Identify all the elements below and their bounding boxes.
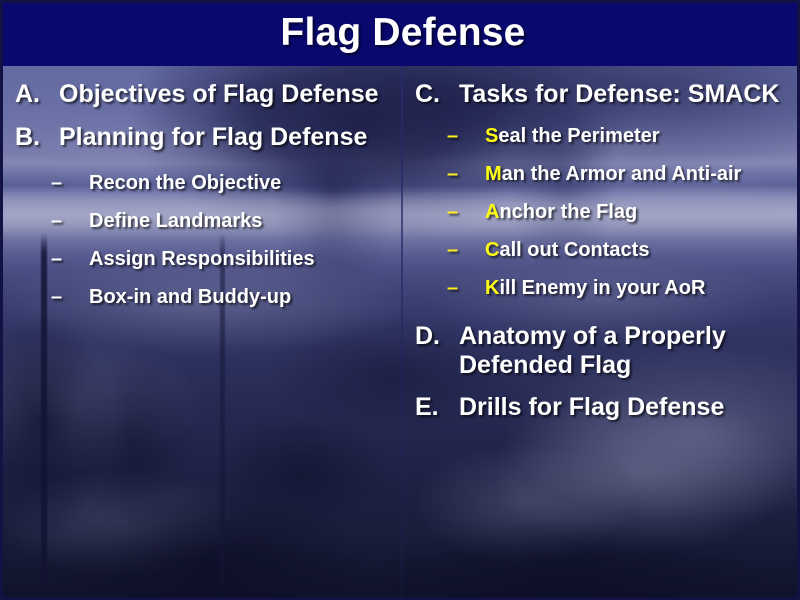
bullet-dash-icon: – (51, 210, 89, 233)
smack-rest-anchor: nchor the Flag (499, 201, 637, 223)
bullet-dash-icon: – (447, 201, 485, 224)
smack-item-seal: – Seal the Perimeter (447, 125, 800, 148)
outline-marker-c: C. (415, 80, 459, 109)
slide-title: Flag Defense (3, 3, 800, 66)
outline-text-d: Anatomy of a Properly Defended Flag (459, 322, 800, 380)
smack-key-letter-s: S (485, 125, 498, 147)
sub-item-recon-label: Recon the Objective (89, 172, 401, 195)
smack-key-letter-k: K (485, 277, 499, 299)
smack-rest-seal: eal the Perimeter (498, 125, 659, 147)
outline-item-b: B. Planning for Flag Defense (15, 123, 401, 152)
outline-item-e: E. Drills for Flag Defense (415, 393, 800, 422)
smack-key-letter-m: M (485, 163, 502, 185)
right-content-column: C. Tasks for Defense: SMACK – Seal the P… (403, 66, 800, 422)
bullet-dash-icon: – (447, 125, 485, 148)
bullet-dash-icon: – (447, 239, 485, 262)
outline-text-c: Tasks for Defense: SMACK (459, 80, 800, 109)
outline-marker-a: A. (15, 80, 59, 109)
smack-rest-call: all out Contacts (499, 239, 649, 261)
smack-item-call-label: Call out Contacts (485, 239, 800, 262)
left-content-column: A. Objectives of Flag Defense B. Plannin… (3, 66, 401, 309)
sub-item-landmarks: – Define Landmarks (51, 210, 401, 233)
sub-item-responsibilities-label: Assign Responsibilities (89, 248, 401, 271)
sub-item-responsibilities: – Assign Responsibilities (51, 248, 401, 271)
smack-item-call: – Call out Contacts (447, 239, 800, 262)
smack-key-letter-c: C (485, 239, 499, 261)
smack-item-man-label: Man the Armor and Anti-air (485, 163, 800, 186)
outline-text-b: Planning for Flag Defense (59, 123, 401, 152)
smack-item-kill-label: Kill Enemy in your AoR (485, 277, 800, 300)
smack-item-kill: – Kill Enemy in your AoR (447, 277, 800, 300)
sub-item-box-in-label: Box-in and Buddy-up (89, 286, 401, 309)
smack-item-man: – Man the Armor and Anti-air (447, 163, 800, 186)
smack-item-anchor-label: Anchor the Flag (485, 201, 800, 224)
outline-text-a: Objectives of Flag Defense (59, 80, 401, 109)
outline-marker-b: B. (15, 123, 59, 152)
outline-item-a: A. Objectives of Flag Defense (15, 80, 401, 109)
sub-item-landmarks-label: Define Landmarks (89, 210, 401, 233)
outline-marker-e: E. (415, 393, 459, 422)
smack-item-anchor: – Anchor the Flag (447, 201, 800, 224)
smack-rest-man: an the Armor and Anti-air (502, 163, 742, 185)
outline-text-e: Drills for Flag Defense (459, 393, 800, 422)
slide: Flag Defense A. Objectives of Flag Defen… (0, 0, 800, 600)
outline-item-d: D. Anatomy of a Properly Defended Flag (415, 322, 800, 380)
bullet-dash-icon: – (51, 286, 89, 309)
sub-item-box-in: – Box-in and Buddy-up (51, 286, 401, 309)
bullet-dash-icon: – (51, 172, 89, 195)
smack-item-seal-label: Seal the Perimeter (485, 125, 800, 148)
bullet-dash-icon: – (447, 163, 485, 186)
title-bar: Flag Defense (3, 3, 800, 66)
outline-item-c: C. Tasks for Defense: SMACK (415, 80, 800, 109)
bullet-dash-icon: – (51, 248, 89, 271)
outline-marker-d: D. (415, 322, 459, 351)
bullet-dash-icon: – (447, 277, 485, 300)
sub-item-recon: – Recon the Objective (51, 172, 401, 195)
smack-rest-kill: ill Enemy in your AoR (499, 277, 705, 299)
smack-key-letter-a: A (485, 201, 499, 223)
